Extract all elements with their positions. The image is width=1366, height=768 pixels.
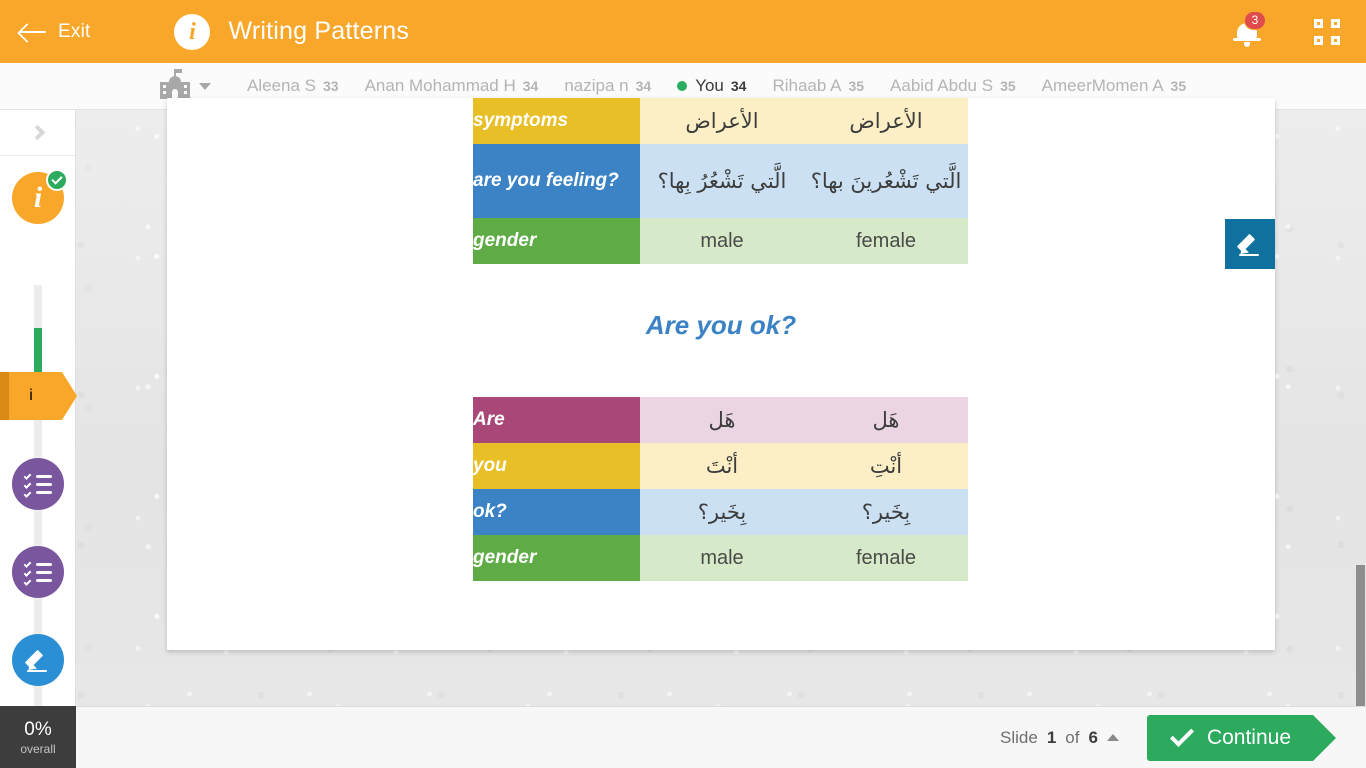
lesson-title-group: i Writing Patterns <box>174 14 409 50</box>
bell-clapper <box>1244 42 1250 47</box>
exit-label: Exit <box>58 21 90 43</box>
table-row: are you feeling? الَّتي تَشْعُرُ بِها؟ ا… <box>473 144 968 218</box>
pencil-icon <box>1237 231 1263 257</box>
pattern-table-top: symptoms الأعراض الأعراض are you feeling… <box>473 98 968 264</box>
chevron-down-icon <box>199 83 211 90</box>
fullscreen-icon[interactable] <box>1314 19 1340 45</box>
student-score: 33 <box>323 78 339 94</box>
scrollbar-track[interactable] <box>1354 110 1366 710</box>
student-score: 35 <box>1000 78 1016 94</box>
row-female-value: أنْتِ <box>804 443 968 489</box>
row-male-value: الأعراض <box>640 98 804 144</box>
row-male-value: بِخَير؟ <box>640 489 804 535</box>
edit-annotation-button[interactable] <box>1225 219 1275 269</box>
check-icon <box>1170 723 1194 747</box>
row-label: gender <box>473 218 640 264</box>
online-dot-icon <box>677 81 687 91</box>
row-label: symptoms <box>473 98 640 144</box>
row-female-value: الأعراض <box>804 98 968 144</box>
sidebar-node-quiz-1[interactable] <box>12 458 64 510</box>
student-chip[interactable]: Rihaab A 35 <box>772 76 864 96</box>
overall-percent: 0% <box>24 719 51 741</box>
overall-progress: 0% overall <box>0 706 76 768</box>
current-node-accent <box>0 372 9 420</box>
pencil-icon <box>25 647 51 673</box>
row-male-value: male <box>640 535 804 581</box>
table-row: symptoms الأعراض الأعراض <box>473 98 968 144</box>
student-chip-me[interactable]: You 34 <box>677 76 746 96</box>
student-name: AmeerMomen A <box>1042 76 1164 96</box>
student-chip[interactable]: Aabid Abdu S 35 <box>890 76 1016 96</box>
student-score: 34 <box>731 78 747 94</box>
header-actions: 3 <box>1232 15 1340 49</box>
student-chip[interactable]: nazipa n 34 <box>564 76 651 96</box>
row-label: gender <box>473 535 640 581</box>
pattern-table-bottom: Are هَل هَل you أنْتَ أنْتِ ok? بِخَير؟ … <box>473 397 968 581</box>
student-score: 34 <box>523 78 539 94</box>
student-chip[interactable]: AmeerMomen A 35 <box>1042 76 1186 96</box>
slide-total: 6 <box>1088 728 1097 748</box>
slide-current: 1 <box>1047 728 1056 748</box>
checklist-icon <box>24 472 52 496</box>
sidebar-node-info-current[interactable]: i <box>0 372 62 420</box>
notifications-button[interactable]: 3 <box>1232 15 1262 49</box>
student-chip[interactable]: Anan Mohammad H 34 <box>365 76 539 96</box>
student-name: Rihaab A <box>772 76 841 96</box>
table-row: ok? بِخَير؟ بِخَير؟ <box>473 489 968 535</box>
row-female-value: female <box>804 218 968 264</box>
checklist-icon <box>24 560 52 584</box>
row-label: ok? <box>473 489 640 535</box>
info-icon: i <box>29 387 33 405</box>
student-score: 35 <box>1171 78 1187 94</box>
row-male-value: أنْتَ <box>640 443 804 489</box>
app-root: Exit i Writing Patterns 3 <box>0 0 1366 768</box>
slide-footer: Slide 1 of 6 Continue <box>76 706 1366 768</box>
student-name: Aleena S <box>247 76 316 96</box>
info-icon: i <box>34 183 42 213</box>
sidebar-expand-button[interactable] <box>0 110 75 156</box>
row-female-value: female <box>804 535 968 581</box>
sidebar-node-info-completed[interactable]: i <box>12 172 64 224</box>
student-score: 34 <box>636 78 652 94</box>
slide-heading: Are you ok? <box>167 310 1275 341</box>
slide-card: symptoms الأعراض الأعراض are you feeling… <box>167 98 1275 650</box>
page-title: Writing Patterns <box>228 17 409 46</box>
exit-button[interactable]: Exit <box>18 21 90 43</box>
table-row: you أنْتَ أنْتِ <box>473 443 968 489</box>
continue-label: Continue <box>1207 726 1291 750</box>
student-score: 35 <box>848 78 864 94</box>
student-name: You <box>695 76 724 96</box>
student-name: Aabid Abdu S <box>890 76 993 96</box>
progress-track-completed <box>34 328 42 378</box>
notification-badge: 3 <box>1244 11 1266 30</box>
chevron-up-icon <box>1107 734 1119 741</box>
row-female-value: الَّتي تَشْعُرينَ بها؟ <box>804 144 968 218</box>
school-selector[interactable] <box>160 73 211 99</box>
sidebar-node-quiz-2[interactable] <box>12 546 64 598</box>
continue-button[interactable]: Continue <box>1147 715 1313 761</box>
slide-counter[interactable]: Slide 1 of 6 <box>1000 728 1119 748</box>
school-icon <box>160 73 190 99</box>
table-row: gender male female <box>473 535 968 581</box>
arrow-left-icon <box>18 21 48 43</box>
row-label: Are <box>473 397 640 443</box>
student-name: Anan Mohammad H <box>365 76 516 96</box>
student-name: nazipa n <box>564 76 628 96</box>
student-list: Aleena S 33 Anan Mohammad H 34 nazipa n … <box>247 76 1186 96</box>
table-row: gender male female <box>473 218 968 264</box>
sidebar-node-write-1[interactable] <box>12 634 64 686</box>
student-chip[interactable]: Aleena S 33 <box>247 76 339 96</box>
row-female-value: هَل <box>804 397 968 443</box>
slide-of-label: of <box>1065 728 1079 748</box>
app-header: Exit i Writing Patterns 3 <box>0 0 1366 63</box>
row-male-value: الَّتي تَشْعُرُ بِها؟ <box>640 144 804 218</box>
table-row: Are هَل هَل <box>473 397 968 443</box>
row-female-value: بِخَير؟ <box>804 489 968 535</box>
chevron-right-icon <box>30 125 46 141</box>
row-male-value: هَل <box>640 397 804 443</box>
check-icon <box>46 169 68 191</box>
info-icon: i <box>174 14 210 50</box>
row-label: are you feeling? <box>473 144 640 218</box>
slide-prefix-label: Slide <box>1000 728 1038 748</box>
row-male-value: male <box>640 218 804 264</box>
row-label: you <box>473 443 640 489</box>
lesson-sidebar: i i <box>0 110 76 768</box>
overall-label: overall <box>20 742 55 756</box>
